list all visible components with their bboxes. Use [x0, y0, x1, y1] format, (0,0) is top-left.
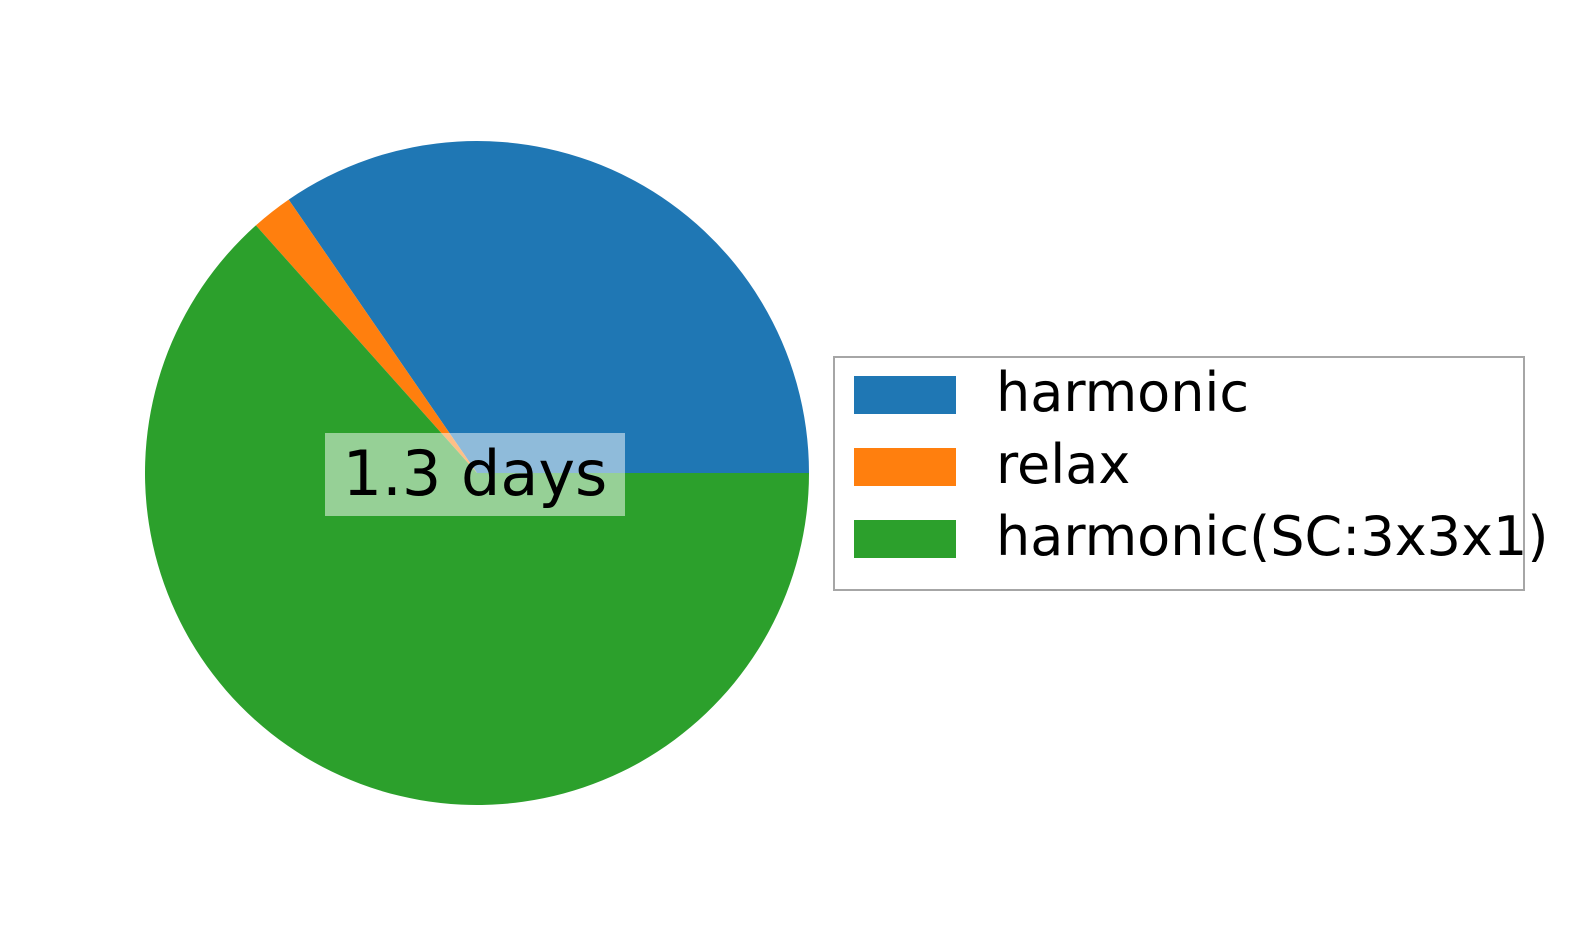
legend-item-harmonic-sc[interactable]: harmonic(SC:3x3x1) [854, 519, 1548, 559]
figure-canvas: 1.3 days harmonic relax harmonic(SC:3x3x… [0, 0, 1584, 951]
legend-swatch-harmonic-sc [854, 520, 956, 558]
legend-swatch-relax [854, 448, 956, 486]
legend-label-harmonic-sc: harmonic(SC:3x3x1) [996, 510, 1548, 564]
pie-center-label-text: 1.3 days [343, 443, 608, 505]
legend-label-harmonic: harmonic [996, 366, 1249, 420]
legend-swatch-harmonic [854, 376, 956, 414]
legend-label-relax: relax [996, 438, 1130, 492]
pie-center-label: 1.3 days [325, 433, 625, 516]
legend-item-harmonic[interactable]: harmonic [854, 375, 1249, 415]
legend: harmonic relax harmonic(SC:3x3x1) [833, 356, 1525, 591]
legend-item-relax[interactable]: relax [854, 447, 1130, 487]
